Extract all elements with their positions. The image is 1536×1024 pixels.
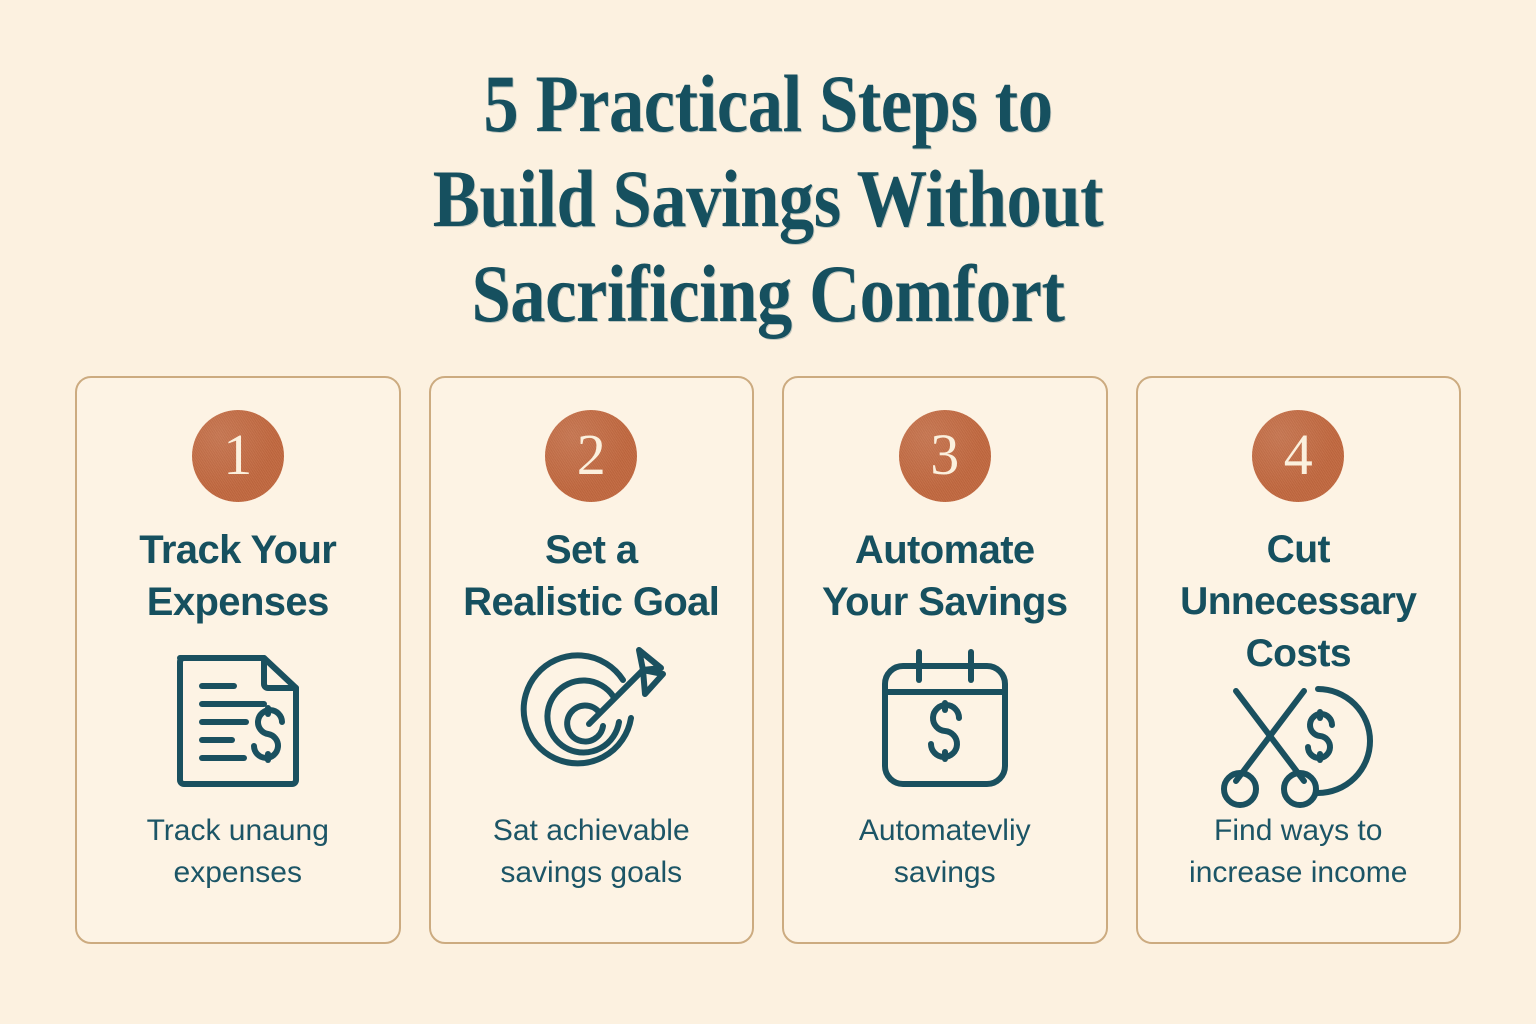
step-title-4-line-2: Unnecessary [1180,576,1416,628]
document-dollar-icon [168,644,308,794]
steps-card-row: 1 Track Your Expenses [75,376,1461,944]
step-caption-4: Find ways to increase income [1189,810,1407,942]
step-card-3[interactable]: 3 Automate Your Savings [782,376,1108,944]
step-card-2[interactable]: 2 Set a Realistic Goal Sat achievable sa… [429,376,755,944]
page-title: 5 Practical Steps to Build Savings Witho… [0,56,1536,341]
step-caption-2: Sat achievable savings goals [493,810,690,942]
step-icon-wrap-2 [445,628,739,810]
step-icon-wrap-3 [798,628,1092,810]
step-title-4: Cut Unnecessary Costs [1180,524,1416,680]
step-caption-3-line-2: savings [859,852,1031,894]
step-card-4[interactable]: 4 Cut Unnecessary Costs [1136,376,1462,944]
step-title-1-line-1: Track Your [139,524,336,576]
step-number-2: 2 [577,426,606,484]
step-title-3-line-1: Automate [822,524,1067,576]
step-number-badge-2: 2 [545,410,637,502]
step-icon-wrap-1 [91,628,385,810]
step-title-1: Track Your Expenses [139,524,336,628]
step-caption-1-line-2: expenses [147,852,329,894]
step-title-4-line-1: Cut [1180,524,1416,576]
step-title-3: Automate Your Savings [822,524,1067,628]
title-line-1: 5 Practical Steps to [108,56,1429,151]
step-caption-1-line-1: Track unaung [147,810,329,852]
step-caption-3: Automatevliy savings [859,810,1031,942]
infographic-page: 5 Practical Steps to Build Savings Witho… [0,0,1536,1024]
step-title-1-line-2: Expenses [139,576,336,628]
step-card-1[interactable]: 1 Track Your Expenses [75,376,401,944]
step-caption-2-line-1: Sat achievable [493,810,690,852]
calendar-dollar-icon [875,644,1015,794]
scissors-coin-icon [1218,681,1378,809]
title-line-3: Sacrificing Comfort [108,246,1429,341]
step-caption-3-line-1: Automatevliy [859,810,1031,852]
step-icon-wrap-4 [1152,680,1446,810]
step-title-3-line-2: Your Savings [822,576,1067,628]
step-caption-2-line-2: savings goals [493,852,690,894]
step-number-badge-3: 3 [899,410,991,502]
step-title-2-line-2: Realistic Goal [463,576,719,628]
step-title-2-line-1: Set a [463,524,719,576]
step-caption-4-line-2: increase income [1189,852,1407,894]
step-number-badge-1: 1 [192,410,284,502]
step-caption-1: Track unaung expenses [147,810,329,942]
step-number-4: 4 [1284,426,1313,484]
step-number-3: 3 [930,426,959,484]
target-arrow-icon [515,644,667,794]
step-caption-4-line-1: Find ways to [1189,810,1407,852]
step-number-1: 1 [223,426,252,484]
step-title-4-line-3: Costs [1180,628,1416,680]
step-number-badge-4: 4 [1252,410,1344,502]
title-line-2: Build Savings Without [108,151,1429,246]
step-title-2: Set a Realistic Goal [463,524,719,628]
